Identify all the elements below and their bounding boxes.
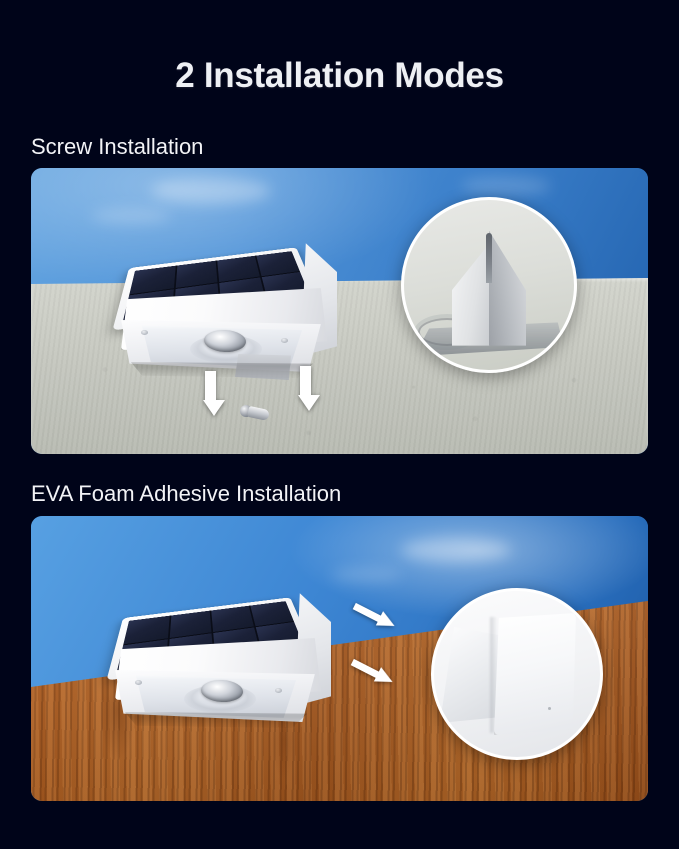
mounting-screw-icon (240, 403, 270, 423)
photo-panel-screw-installation (31, 168, 648, 454)
cloud-shape (461, 176, 551, 196)
arrow-shaft (300, 366, 311, 396)
cloud-shape (151, 178, 271, 204)
scene-wood-wall (31, 516, 648, 801)
solar-wall-light-product (109, 552, 354, 742)
infographic-page: 2 Installation Modes Screw Installation (0, 0, 679, 849)
housing-screw-point (281, 338, 288, 343)
arrow-head (203, 400, 225, 416)
screw-shank (247, 406, 270, 421)
housing-screw-point (275, 688, 282, 693)
product-drop-shadow (127, 362, 317, 378)
bracket-face-left (452, 243, 490, 346)
foam-pad-front-layer (494, 613, 576, 735)
foam-pad-detail-dot (548, 707, 551, 710)
cloud-shape (401, 538, 511, 562)
product-drop-shadow (121, 712, 311, 728)
keyhole-bracket-icon (452, 231, 526, 346)
photo-panel-eva-foam-installation (31, 516, 648, 801)
bracket-face-right (489, 231, 526, 346)
scene-concrete-wall (31, 168, 648, 454)
section-label-screw-installation: Screw Installation (31, 134, 203, 160)
housing-screw-point (141, 330, 148, 335)
down-arrow-icon (203, 371, 218, 416)
section-label-eva-foam-installation: EVA Foam Adhesive Installation (31, 481, 341, 507)
arrow-head (298, 395, 320, 411)
inset-circle-eva-foam-pad (431, 588, 603, 760)
bracket-keyhole-slot (486, 233, 492, 283)
housing-screw-point (135, 680, 142, 685)
eva-foam-adhesive-pad-icon (436, 603, 600, 753)
down-arrow-icon (298, 366, 313, 411)
arrow-shaft (205, 371, 216, 401)
page-title: 2 Installation Modes (0, 55, 679, 97)
solar-wall-light-product (115, 202, 355, 392)
inset-circle-keyhole-bracket (401, 197, 577, 373)
